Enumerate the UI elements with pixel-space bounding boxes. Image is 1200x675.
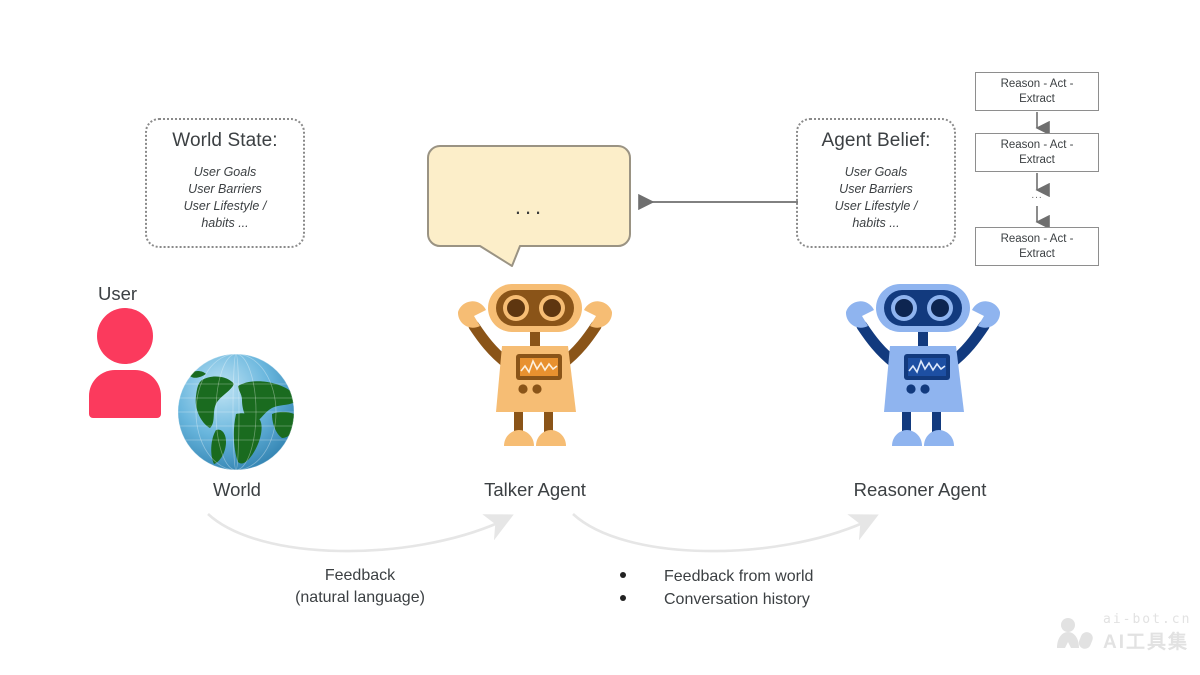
- list-item: Conversation history: [620, 589, 813, 612]
- reason-act-extract-box-1[interactable]: Reason - Act - Extract: [975, 72, 1099, 111]
- user-body-shape: [89, 370, 161, 418]
- watermark-line1: ai-bot.cn: [1103, 612, 1191, 627]
- chain-ellipsis: ...: [1027, 190, 1047, 201]
- watermark-line2: AI工具集: [1103, 627, 1191, 654]
- agent-belief-box: Agent Belief: User Goals User Barriers U…: [796, 118, 956, 248]
- watermark: ai-bot.cn AI工具集: [1053, 612, 1191, 654]
- list-item: Feedback from world: [620, 566, 813, 589]
- user-head-shape: [97, 308, 153, 364]
- reason-act-extract-box-3[interactable]: Reason - Act - Extract: [975, 227, 1099, 266]
- talker-agent-label: Talker Agent: [455, 479, 615, 501]
- reasoner-input-1: Conversation history: [664, 589, 810, 612]
- agent-belief-title: Agent Belief:: [821, 130, 930, 152]
- user-icon: [89, 308, 161, 418]
- diagram-canvas: World State: User Goals User Barriers Us…: [0, 0, 1200, 675]
- feedback-caption-line2: (natural language): [255, 587, 465, 609]
- reason-act-extract-chain: Reason - Act - Extract Reason - Act - Ex…: [973, 72, 1101, 276]
- globe-shape: [172, 352, 302, 472]
- agent-belief-lines: User Goals User Barriers User Lifestyle …: [835, 164, 918, 232]
- belief-to-bubble-arrow: [630, 188, 802, 218]
- bullet-icon: [620, 572, 626, 578]
- reason-act-extract-box-2[interactable]: Reason - Act - Extract: [975, 133, 1099, 172]
- talker-speech-bubble: ...: [420, 138, 640, 278]
- user-label: User: [60, 283, 175, 305]
- reasoner-agent-robot-icon: [828, 276, 1018, 461]
- reasoner-agent-label: Reasoner Agent: [830, 479, 1010, 501]
- bullet-icon: [620, 595, 626, 601]
- watermark-logo-icon: [1053, 616, 1095, 650]
- feedback-caption: Feedback (natural language): [255, 565, 465, 608]
- speech-bubble-dots: ...: [420, 196, 640, 218]
- world-state-box: World State: User Goals User Barriers Us…: [145, 118, 305, 248]
- reasoner-inputs-list: Feedback from world Conversation history: [620, 566, 813, 611]
- reasoner-input-0: Feedback from world: [664, 566, 813, 589]
- talker-agent-robot-icon: [440, 276, 630, 461]
- robot-blue-shape: [828, 276, 1018, 456]
- world-to-talker-arrow: [200, 500, 530, 570]
- world-state-lines: User Goals User Barriers User Lifestyle …: [184, 164, 267, 232]
- robot-orange-shape: [440, 276, 630, 456]
- feedback-caption-line1: Feedback: [255, 565, 465, 587]
- talker-to-reasoner-arrow: [565, 500, 895, 570]
- world-globe-icon: [172, 352, 302, 477]
- world-state-title: World State:: [172, 130, 277, 152]
- world-label: World: [175, 479, 299, 501]
